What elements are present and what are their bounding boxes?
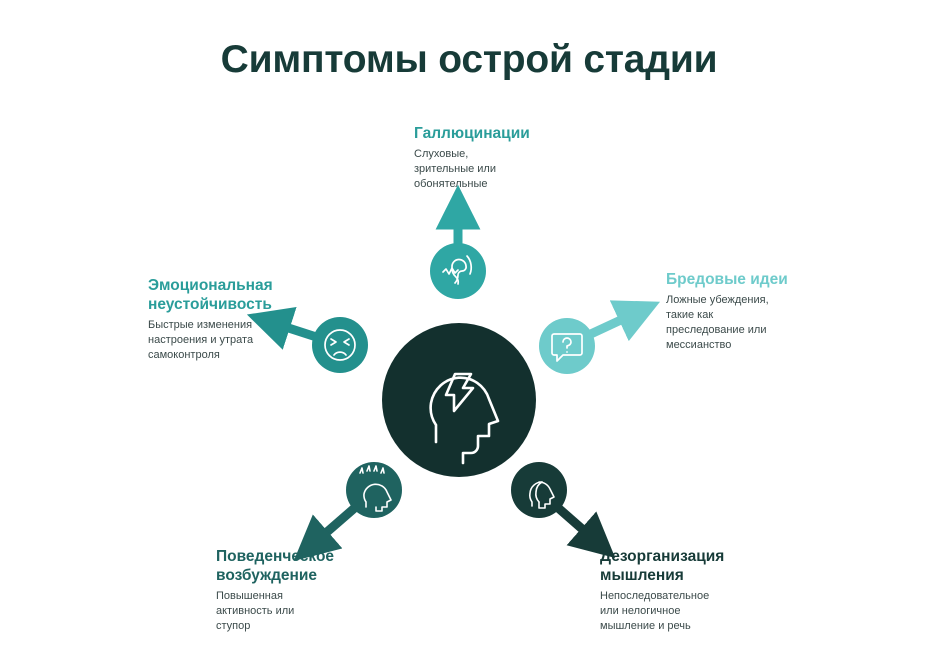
label-disorganized-body: Непоследовательное или нелогичное мышлен…: [600, 589, 790, 634]
label-hallucinations: Галлюцинации Слуховые, зрительные или об…: [414, 124, 604, 192]
label-disorganized-heading: Дезорганизация мышления: [600, 547, 790, 585]
label-delusions-body: Ложные убеждения, такие как преследовани…: [666, 293, 856, 353]
label-hallucinations-heading: Галлюцинации: [414, 124, 604, 143]
label-emotional-heading: Эмоциональная неустойчивость: [148, 276, 308, 314]
infographic-root: Симптомы острой стадии: [0, 0, 938, 665]
label-disorganized: Дезорганизация мышления Непоследовательн…: [600, 547, 790, 634]
node-behavioral[interactable]: [346, 462, 402, 518]
label-delusions: Бредовые идеи Ложные убеждения, такие ка…: [666, 270, 856, 353]
node-circle-disorganized: [511, 462, 567, 518]
label-emotional: Эмоциональная неустойчивость Быстрые изм…: [148, 276, 308, 363]
center-node[interactable]: [382, 323, 536, 477]
label-behavioral-heading: Поведенческое возбуждение: [216, 547, 406, 585]
node-hallucinations[interactable]: [430, 243, 486, 299]
node-delusions[interactable]: [539, 318, 595, 374]
label-delusions-heading: Бредовые идеи: [666, 270, 856, 289]
label-behavioral-body: Повышенная активность или ступор: [216, 589, 406, 634]
label-hallucinations-body: Слуховые, зрительные или обонятельные: [414, 147, 604, 192]
center-circle: [382, 323, 536, 477]
node-disorganized[interactable]: [511, 462, 567, 518]
node-circle-emotional: [312, 317, 368, 373]
label-emotional-body: Быстрые изменения настроения и утрата са…: [148, 318, 308, 363]
label-behavioral: Поведенческое возбуждение Повышенная акт…: [216, 547, 406, 634]
node-emotional[interactable]: [312, 317, 368, 373]
